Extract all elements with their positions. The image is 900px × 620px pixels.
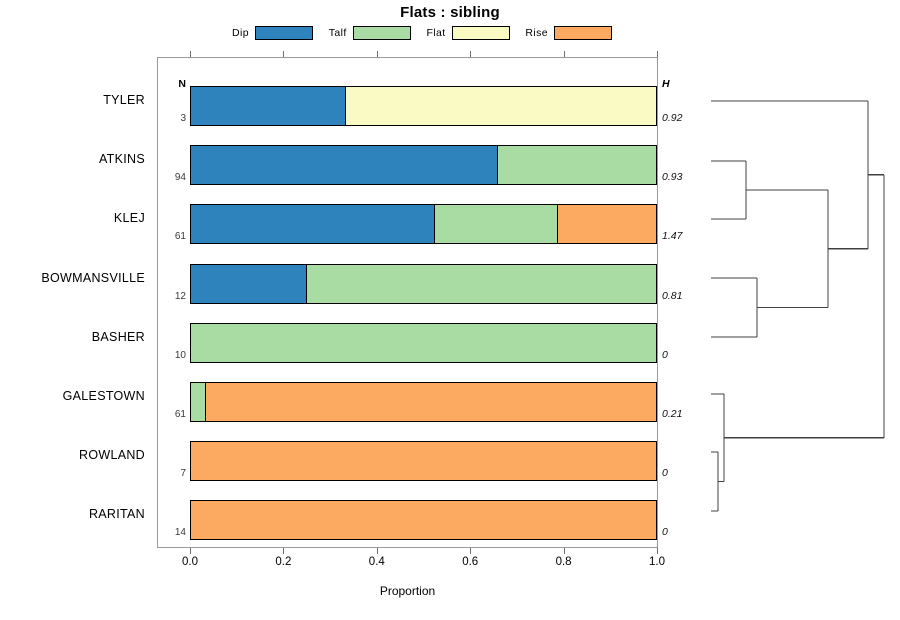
- row-h-value: 0.92: [662, 112, 702, 124]
- row-label-tyler: TYLER: [0, 93, 145, 107]
- row-n-value: 10: [160, 350, 186, 361]
- stacked-bar: [190, 264, 657, 304]
- x-tick: [377, 548, 378, 554]
- x-tick-label: 0.2: [253, 556, 313, 568]
- row-h-value: 1.47: [662, 230, 702, 242]
- x-tick: [657, 548, 658, 554]
- dendrogram: [700, 57, 895, 548]
- x-tick-label: 0.0: [160, 556, 220, 568]
- bar-segment-dip: [191, 146, 498, 184]
- page-title: Flats : sibling: [0, 4, 900, 21]
- x-tick-label: 0.4: [347, 556, 407, 568]
- bar-segment-dip: [191, 87, 346, 125]
- legend-label-flat: Flat: [426, 27, 445, 39]
- stacked-bar: [190, 204, 657, 244]
- row-n-value: 61: [160, 231, 186, 242]
- row-n-value: 3: [160, 113, 186, 124]
- legend-label-rise: Rise: [525, 27, 548, 39]
- bar-segment-rise: [558, 205, 656, 243]
- x-tick-top: [657, 51, 658, 57]
- row-h-value: 0.81: [662, 290, 702, 302]
- stacked-bar: [190, 500, 657, 540]
- x-tick: [470, 548, 471, 554]
- x-tick-top: [283, 51, 284, 57]
- legend-item-talf: Talf: [329, 26, 411, 40]
- legend: Dip Talf Flat Rise: [232, 25, 612, 41]
- x-tick-label: 1.0: [627, 556, 687, 568]
- row-h-value: 0.21: [662, 408, 702, 420]
- legend-item-flat: Flat: [426, 26, 509, 40]
- row-label-rowland: ROWLAND: [0, 448, 145, 462]
- bar-segment-dip: [191, 205, 435, 243]
- column-header-n: N: [160, 78, 186, 90]
- row-label-klej: KLEJ: [0, 211, 145, 225]
- stacked-bar: [190, 145, 657, 185]
- bar-segment-rise: [191, 501, 656, 539]
- bar-segment-talf: [307, 265, 656, 303]
- bar-segment-talf: [435, 205, 558, 243]
- legend-item-dip: Dip: [232, 26, 313, 40]
- x-tick-top: [564, 51, 565, 57]
- bar-segment-flat: [346, 87, 656, 125]
- legend-swatch-rise: [554, 26, 612, 40]
- row-n-value: 14: [160, 527, 186, 538]
- bar-segment-talf: [191, 324, 656, 362]
- x-tick-top: [377, 51, 378, 57]
- stacked-bar: [190, 382, 657, 422]
- x-tick-label: 0.8: [534, 556, 594, 568]
- row-label-basher: BASHER: [0, 330, 145, 344]
- row-h-value: 0.93: [662, 171, 702, 183]
- bar-segment-rise: [206, 383, 656, 421]
- row-h-value: 0: [662, 467, 702, 479]
- bar-segment-dip: [191, 265, 307, 303]
- row-label-atkins: ATKINS: [0, 152, 145, 166]
- row-label-bowmansville: BOWMANSVILLE: [0, 271, 145, 285]
- dendrogram-svg: [700, 57, 895, 548]
- legend-swatch-talf: [353, 26, 411, 40]
- row-n-value: 94: [160, 172, 186, 183]
- legend-label-talf: Talf: [329, 27, 347, 39]
- row-h-value: 0: [662, 349, 702, 361]
- row-n-value: 7: [160, 468, 186, 479]
- row-label-raritan: RARITAN: [0, 507, 145, 521]
- bar-segment-rise: [191, 442, 656, 480]
- legend-label-dip: Dip: [232, 27, 249, 39]
- row-n-value: 12: [160, 291, 186, 302]
- stacked-bar: [190, 441, 657, 481]
- legend-swatch-dip: [255, 26, 313, 40]
- column-header-h: H: [662, 78, 702, 90]
- x-tick-label: 0.6: [440, 556, 500, 568]
- x-tick-top: [190, 51, 191, 57]
- stacked-bar: [190, 323, 657, 363]
- x-tick-top: [470, 51, 471, 57]
- bar-segment-talf: [191, 383, 206, 421]
- x-tick: [283, 548, 284, 554]
- row-label-galestown: GALESTOWN: [0, 389, 145, 403]
- legend-swatch-flat: [452, 26, 510, 40]
- x-tick: [190, 548, 191, 554]
- row-n-value: 61: [160, 409, 186, 420]
- legend-item-rise: Rise: [525, 26, 612, 40]
- x-axis-title: Proportion: [157, 584, 658, 598]
- bar-segment-talf: [498, 146, 656, 184]
- stacked-bar: [190, 86, 657, 126]
- row-h-value: 0: [662, 526, 702, 538]
- chart-root: Flats : sibling Dip Talf Flat Rise N H T…: [0, 0, 900, 620]
- x-tick: [564, 548, 565, 554]
